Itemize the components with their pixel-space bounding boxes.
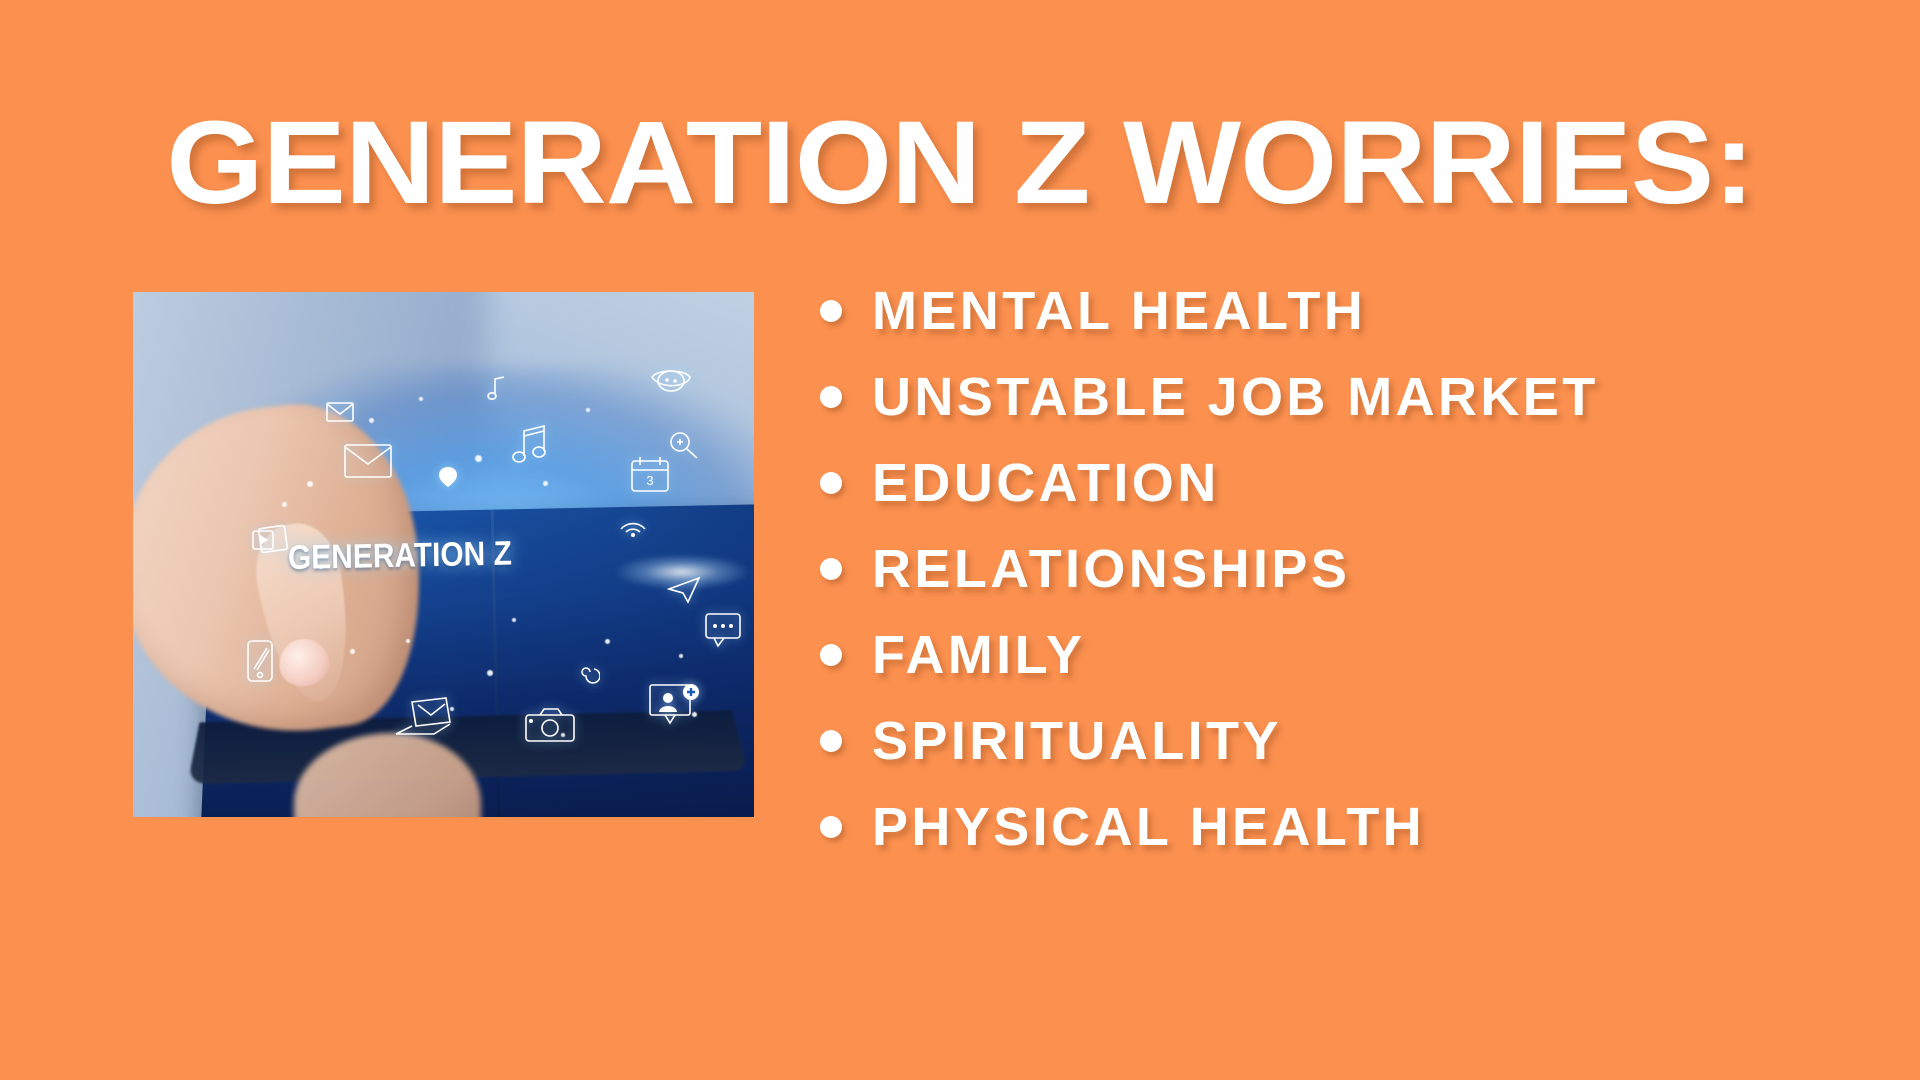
mobile-edit-icon	[245, 639, 275, 683]
video-play-icon	[251, 523, 291, 555]
page-title: GENERATION Z WORRIES:	[0, 104, 1920, 222]
list-item[interactable]: MENTAL HEALTH	[820, 268, 1900, 354]
list-item[interactable]: EDUCATION	[820, 440, 1900, 526]
sparkle-dot	[282, 502, 287, 507]
sparkle-dot	[512, 618, 516, 622]
calendar-icon: 3	[630, 455, 670, 493]
sparkle-dot	[475, 455, 482, 462]
hero-image-content: GENERATION Z	[133, 292, 754, 817]
list-item-label: RELATIONSHIPS	[872, 542, 1350, 596]
list-item[interactable]: SPIRITUALITY	[820, 698, 1900, 784]
envelope-icon	[344, 444, 392, 478]
sparkle-dot	[543, 481, 548, 486]
sparkle-dot	[692, 712, 697, 717]
add-contact-icon	[648, 681, 702, 727]
bullet-dot-icon	[820, 300, 842, 322]
music-note-icon	[506, 423, 550, 465]
music-note-small-icon	[487, 376, 507, 400]
list-item[interactable]: RELATIONSHIPS	[820, 526, 1900, 612]
list-item-label: SPIRITUALITY	[872, 714, 1282, 768]
list-item-label: EDUCATION	[872, 456, 1220, 510]
wifi-icon	[617, 507, 651, 537]
worries-list: MENTAL HEALTH UNSTABLE JOB MARKET EDUCAT…	[820, 268, 1900, 870]
sparkle-dot	[369, 418, 374, 423]
list-item[interactable]: UNSTABLE JOB MARKET	[820, 354, 1900, 440]
laptop-mail-icon	[394, 696, 456, 738]
list-item[interactable]: FAMILY	[820, 612, 1900, 698]
sparkle-dot	[450, 707, 454, 711]
bullet-dot-icon	[820, 472, 842, 494]
camera-icon	[524, 707, 576, 743]
slide-canvas: GENERATION Z WORRIES: GENERATION Z	[0, 0, 1920, 1080]
spiral-icon	[574, 660, 600, 684]
sparkle-dot	[605, 639, 610, 644]
location-pin-icon	[437, 465, 459, 489]
sparkle-dot	[419, 397, 423, 401]
bullet-dot-icon	[820, 730, 842, 752]
sparkle-dot	[586, 408, 590, 412]
bullet-dot-icon	[820, 644, 842, 666]
bullet-dot-icon	[820, 386, 842, 408]
list-item[interactable]: PHYSICAL HEALTH	[820, 784, 1900, 870]
svg-text:3: 3	[646, 473, 653, 488]
sparkle-dot	[307, 481, 313, 487]
sparkle-dot	[487, 670, 493, 676]
list-item-label: MENTAL HEALTH	[872, 284, 1366, 338]
list-item-label: FAMILY	[872, 628, 1085, 682]
planet-chat-icon	[648, 366, 694, 396]
paper-plane-icon	[667, 576, 701, 604]
envelope-small-icon	[326, 402, 354, 422]
chat-bubble-icon	[704, 612, 746, 648]
list-item-label: UNSTABLE JOB MARKET	[872, 370, 1599, 424]
list-item-label: PHYSICAL HEALTH	[872, 800, 1425, 854]
bullet-dot-icon	[820, 558, 842, 580]
screen-caption: GENERATION Z	[288, 534, 512, 577]
search-plus-icon	[667, 429, 701, 461]
sparkle-dot	[406, 639, 410, 643]
bullet-dot-icon	[820, 816, 842, 838]
hero-image: GENERATION Z	[133, 292, 754, 817]
